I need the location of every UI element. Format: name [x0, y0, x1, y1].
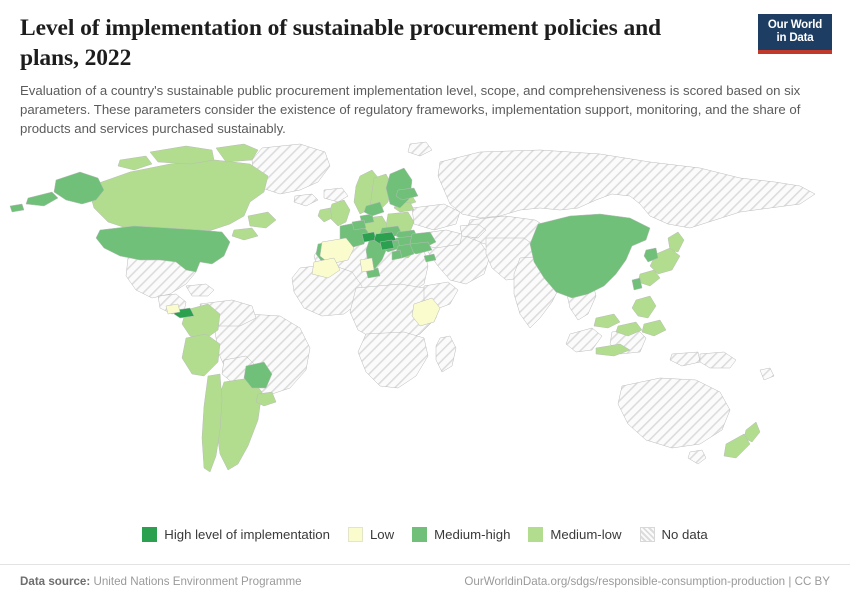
legend-label-no-data: No data	[662, 527, 708, 542]
page-title: Level of implementation of sustainable p…	[20, 14, 710, 73]
world-map[interactable]	[0, 138, 850, 520]
legend-item-medium-high[interactable]: Medium-high	[412, 527, 510, 542]
footer-source-value: United Nations Environment Programme	[93, 575, 301, 588]
legend-swatch-high	[142, 527, 157, 542]
legend-swatch-low	[348, 527, 363, 542]
owid-logo-line2: in Data	[758, 32, 832, 45]
chart-footer: Data source: United Nations Environment …	[0, 564, 850, 600]
legend-swatch-no-data	[640, 527, 655, 542]
legend-item-low[interactable]: Low	[348, 527, 394, 542]
legend-label-high: High level of implementation	[164, 527, 330, 542]
legend-label-low: Low	[370, 527, 394, 542]
legend-label-medium-high: Medium-high	[434, 527, 510, 542]
footer-link[interactable]: OurWorldinData.org/sdgs/responsible-cons…	[464, 575, 830, 588]
footer-source-label: Data source:	[20, 575, 90, 588]
legend-swatch-medium-low	[528, 527, 543, 542]
legend-item-medium-low[interactable]: Medium-low	[528, 527, 621, 542]
owid-chart: Level of implementation of sustainable p…	[0, 0, 850, 600]
chart-header: Level of implementation of sustainable p…	[0, 0, 850, 138]
footer-data-source: Data source: United Nations Environment …	[20, 575, 302, 588]
map-legend: High level of implementation Low Medium-…	[0, 527, 850, 542]
legend-swatch-medium-high	[412, 527, 427, 542]
chart-subtitle: Evaluation of a country's sustainable pu…	[20, 82, 820, 138]
legend-item-no-data[interactable]: No data	[640, 527, 708, 542]
legend-label-medium-low: Medium-low	[550, 527, 621, 542]
legend-item-high[interactable]: High level of implementation	[142, 527, 330, 542]
owid-logo[interactable]: Our World in Data	[758, 14, 832, 54]
owid-logo-line1: Our World	[758, 19, 832, 32]
